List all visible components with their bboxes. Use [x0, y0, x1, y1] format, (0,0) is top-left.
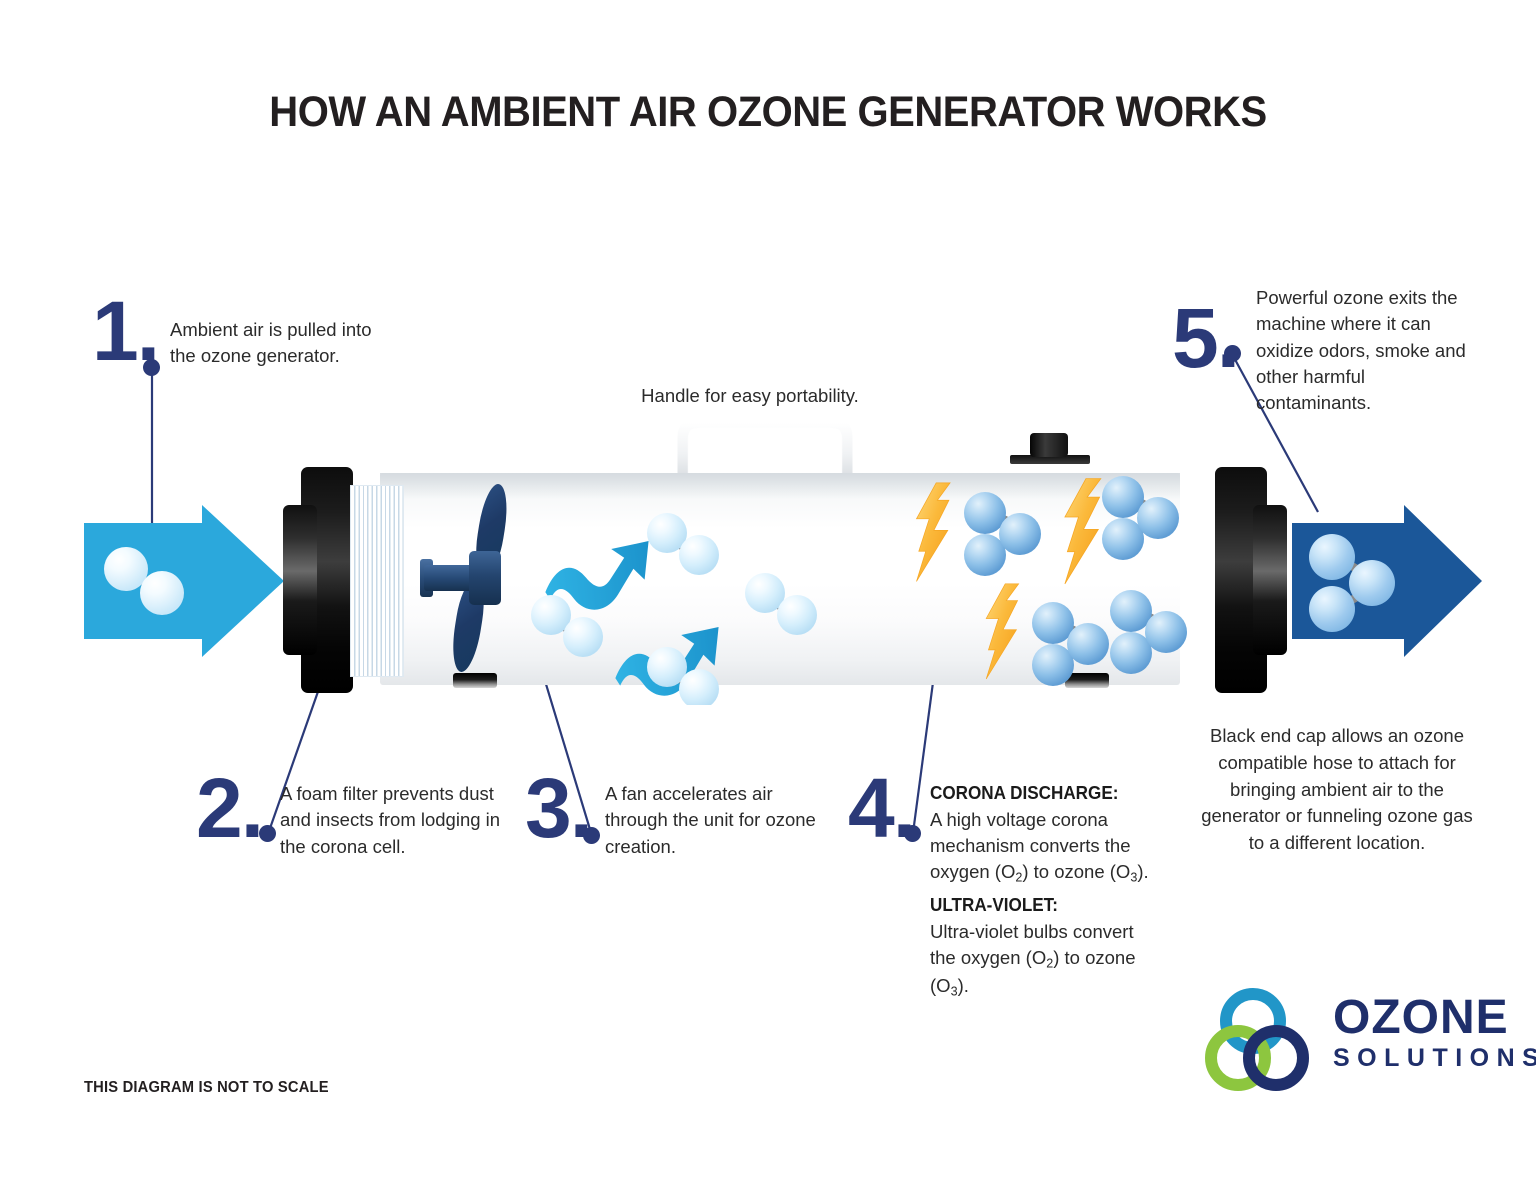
lightning-bolt-icon — [1065, 479, 1101, 584]
step-5-number: 5. — [1172, 305, 1238, 372]
step-3-text: A fan accelerates air through the unit f… — [605, 781, 830, 860]
handle-caption: Handle for easy portability. — [600, 383, 900, 409]
step-5-dot — [1224, 345, 1241, 362]
step-3-number: 3. — [525, 775, 591, 842]
logo-rings-icon — [1205, 988, 1330, 1094]
exhaust-arrow — [1292, 505, 1482, 657]
intake-arrow — [84, 505, 284, 657]
step-2-dot — [259, 825, 276, 842]
top-vent-knob — [1030, 433, 1068, 457]
step-1-dot — [143, 359, 160, 376]
logo-name-bottom: SOLUTIONS — [1333, 1046, 1536, 1071]
step-2-number: 2. — [196, 775, 262, 842]
o2-molecule-icon — [745, 573, 817, 635]
chamber-contents — [275, 455, 1275, 705]
logo-wordmark: OZONE SOLUTIONS — [1333, 994, 1536, 1071]
step-2-text: A foam filter prevents dust and insects … — [280, 781, 510, 860]
lightning-bolt-icon — [986, 584, 1018, 679]
infographic-canvas: HOW AN AMBIENT AIR OZONE GENERATOR WORKS… — [0, 0, 1536, 1187]
step-4-corona-block: CORONA DISCHARGE: A high voltage corona … — [930, 781, 1155, 887]
ozone-solutions-logo: OZONE SOLUTIONS — [1205, 988, 1480, 1094]
step-4-dot — [904, 825, 921, 842]
end-cap-caption: Black end cap allows an ozone compatible… — [1196, 723, 1478, 857]
o2-molecules — [531, 513, 817, 705]
lightning-bolt-icon — [916, 483, 950, 582]
page-title: HOW AN AMBIENT AIR OZONE GENERATOR WORKS — [54, 88, 1482, 137]
corona-discharge-heading: CORONA DISCHARGE: — [930, 781, 1144, 807]
footer-note: THIS DIAGRAM IS NOT TO SCALE — [84, 1079, 329, 1097]
step-5-text: Powerful ozone exits the machine where i… — [1256, 285, 1466, 416]
step-4-uv-block: ULTRA-VIOLET: Ultra-violet bulbs convert… — [930, 893, 1145, 1002]
ultra-violet-heading: ULTRA-VIOLET: — [930, 893, 1134, 919]
corona-text-b: ) to ozone (O — [1022, 861, 1130, 882]
o3-molecule-icon — [1032, 602, 1109, 686]
o3-molecule-icon — [964, 492, 1041, 576]
o2-molecule-icon — [647, 513, 719, 575]
logo-name-top: OZONE — [1333, 994, 1536, 1042]
o3-molecule-icon — [1110, 590, 1187, 674]
corona-text-c: ). — [1137, 861, 1148, 882]
uv-text-c: ). — [958, 975, 969, 996]
ozone-generator-machine — [275, 455, 1275, 705]
step-1-text: Ambient air is pulled into the ozone gen… — [170, 317, 395, 370]
uv-sub-2: 3 — [951, 985, 958, 999]
o3-molecule-icon — [1102, 476, 1179, 560]
step-3-dot — [583, 827, 600, 844]
step-1-number: 1. — [92, 298, 158, 365]
